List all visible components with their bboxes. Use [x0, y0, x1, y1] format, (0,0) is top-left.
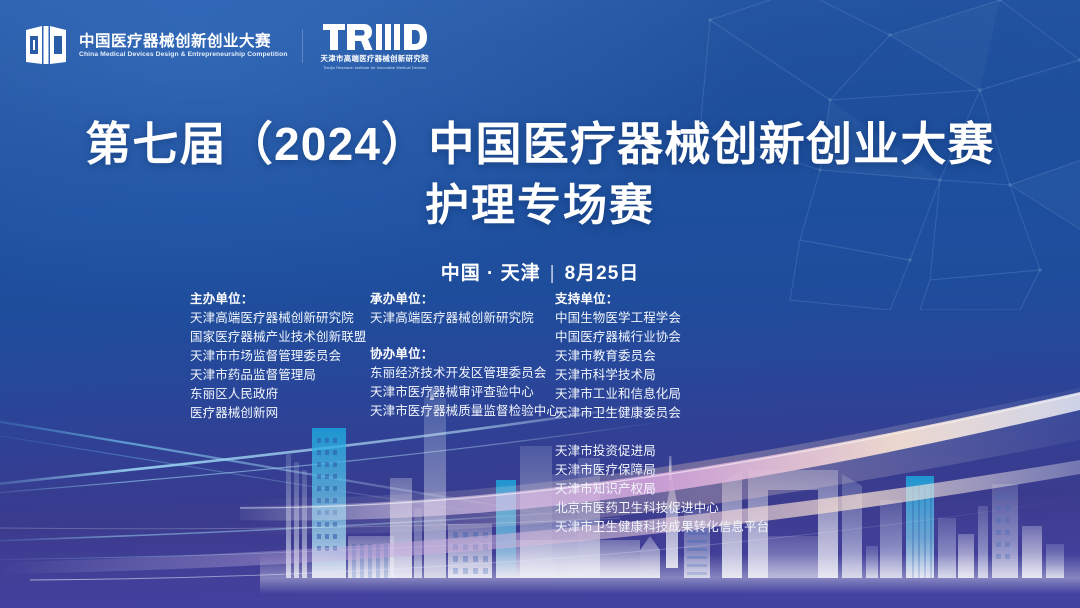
group-item: 天津市市场监督管理委员会: [190, 347, 370, 366]
group-item: 中国生物医学工程学会: [555, 309, 683, 328]
group-item: 医疗器械创新网: [190, 404, 370, 423]
group-item: 天津市科学技术局: [555, 366, 683, 385]
page-subtitle: 护理专场赛: [0, 179, 1080, 234]
cmdc-logo-cn: 中国医疗器械创新创业大赛: [79, 34, 284, 50]
group-item: 东丽区人民政府: [190, 385, 370, 404]
group-heading: 主办单位：: [190, 290, 370, 309]
supporters-subcolumn-left: 支持单位： 中国生物医学工程学会 中国医疗器械行业协会 天津市教育委员会 天津市…: [555, 290, 683, 423]
page-title: 第七届（2024）中国医疗器械创新创业大赛: [0, 116, 1080, 173]
logo-bar: 中国医疗器械创新创业大赛 China Medical Devices Desig…: [22, 22, 429, 70]
cmdc-logo[interactable]: 中国医疗器械创新创业大赛 China Medical Devices Desig…: [22, 24, 284, 68]
organizers-column-organizer: 承办单位： 天津高端医疗器械创新研究院 协办单位： 东丽经济技术开发区管理委员会…: [370, 290, 555, 421]
group-item: 国家医疗器械产业技术创新联盟: [190, 328, 370, 347]
group-item: 北京市医药卫生科技促进中心: [555, 499, 765, 518]
group-item: 天津市知识产权局: [555, 480, 765, 499]
group-item: 天津市卫生健康科技成果转化信息平台: [555, 518, 765, 537]
logo-divider: [302, 29, 303, 63]
group-item: 天津市医疗器械审评查验中心: [370, 383, 555, 402]
supporters-subcolumn-right: 天津市投资促进局 天津市医疗保障局 天津市知识产权局 北京市医药卫生科技促进中心…: [555, 423, 765, 537]
organizers-column-host: 主办单位： 天津高端医疗器械创新研究院 国家医疗器械产业技术创新联盟 天津市市场…: [190, 290, 370, 423]
event-date: 8月25日: [565, 263, 640, 284]
triid-logo-cn: 天津市高端医疗器械创新研究院: [321, 55, 429, 63]
organizers-block: 主办单位： 天津高端医疗器械创新研究院 国家医疗器械产业技术创新联盟 天津市市场…: [190, 290, 910, 537]
group-coorganizer: 协办单位： 东丽经济技术开发区管理委员会 天津市医疗器械审评查验中心 天津市医疗…: [370, 345, 555, 421]
group-organizer: 承办单位： 天津高端医疗器械创新研究院: [370, 290, 555, 328]
group-item: 天津市医疗器械质量监督检验中心: [370, 402, 555, 421]
title-block: 第七届（2024）中国医疗器械创新创业大赛 护理专场赛: [0, 116, 1080, 234]
group-item: 天津市医疗保障局: [555, 461, 765, 480]
group-item: 天津市卫生健康委员会: [555, 404, 683, 423]
group-item: 天津高端医疗器械创新研究院: [370, 309, 555, 328]
organizers-column-supporters: 支持单位： 中国生物医学工程学会 中国医疗器械行业协会 天津市教育委员会 天津市…: [555, 290, 765, 537]
group-item: 天津高端医疗器械创新研究院: [190, 309, 370, 328]
group-item: 天津市投资促进局: [555, 442, 765, 461]
group-item: 天津市药品监督管理局: [190, 366, 370, 385]
group-heading: 承办单位：: [370, 290, 555, 309]
triid-logo-en: Tianjin Research Institute for Innovativ…: [323, 66, 426, 70]
open-book-icon: [22, 24, 70, 68]
group-heading: 支持单位：: [555, 290, 683, 309]
triid-logo[interactable]: 天津市高端医疗器械创新研究院 Tianjin Research Institut…: [321, 22, 429, 70]
dateline-separator: |: [550, 263, 556, 285]
event-location: 中国 · 天津: [441, 263, 541, 284]
group-item: 天津市工业和信息化局: [555, 385, 683, 404]
cmdc-logo-en: China Medical Devices Design & Entrepren…: [79, 52, 288, 59]
group-item: 天津市教育委员会: [555, 347, 683, 366]
group-heading: 协办单位：: [370, 345, 555, 364]
group-item: 东丽经济技术开发区管理委员会: [370, 364, 555, 383]
event-dateline: 中国 · 天津|8月25日: [0, 258, 1080, 285]
group-host: 主办单位： 天津高端医疗器械创新研究院 国家医疗器械产业技术创新联盟 天津市市场…: [190, 290, 370, 423]
poster-canvas: 中国医疗器械创新创业大赛 China Medical Devices Desig…: [0, 0, 1080, 608]
triid-wordmark-icon: [323, 22, 427, 52]
group-item: 中国医疗器械行业协会: [555, 328, 683, 347]
